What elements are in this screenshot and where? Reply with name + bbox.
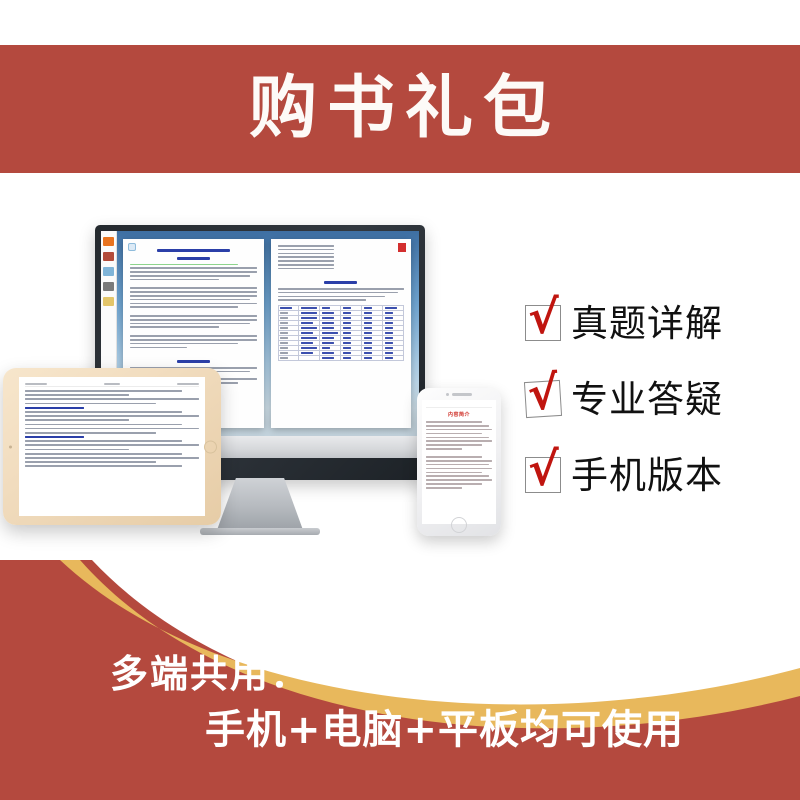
doc-text-line bbox=[278, 256, 335, 258]
tablet-camera-icon bbox=[9, 445, 12, 448]
bottom-section: 多端共用： 手机+电脑+平板均可使用 bbox=[0, 560, 800, 800]
document-page-right[interactable] bbox=[271, 239, 412, 428]
doc-text-line bbox=[25, 449, 129, 451]
doc-text-line bbox=[130, 271, 257, 273]
doc-text-line bbox=[25, 419, 129, 421]
doc-text-line bbox=[278, 264, 335, 266]
page-title: 购书礼包 bbox=[239, 75, 561, 143]
doc-text-line bbox=[130, 323, 250, 325]
tablet-screen[interactable] bbox=[19, 377, 205, 516]
bottom-tagline-line1: 多端共用： bbox=[110, 655, 310, 693]
doc-text-line bbox=[426, 475, 489, 477]
tablet-status-bar bbox=[25, 382, 199, 387]
doc-text-line bbox=[25, 411, 182, 413]
doc-text-line bbox=[25, 415, 199, 417]
check-glyph: √ bbox=[528, 446, 559, 492]
doc-text-line bbox=[25, 440, 182, 442]
monitor-stand-neck bbox=[217, 478, 303, 530]
doc-heading-line bbox=[25, 436, 84, 438]
status-center-icon bbox=[104, 383, 120, 385]
doc-text-line bbox=[130, 343, 238, 345]
doc-text-line bbox=[426, 456, 482, 458]
feature-item-3: √ 手机版本 bbox=[525, 437, 795, 513]
doc-text-line bbox=[130, 319, 257, 321]
check-glyph: √ bbox=[526, 369, 559, 417]
feature-label: 手机版本 bbox=[571, 457, 723, 494]
data-table bbox=[278, 305, 405, 361]
doc-text-line bbox=[25, 453, 182, 455]
doc-text-line bbox=[130, 291, 257, 293]
feature-item-1: √ 真题详解 bbox=[525, 285, 795, 361]
doc-text-line bbox=[130, 326, 219, 328]
feature-label: 真题详解 bbox=[571, 305, 723, 342]
doc-text-line bbox=[130, 295, 257, 297]
doc-text-line bbox=[130, 347, 187, 349]
doc-text-line bbox=[130, 275, 250, 277]
doc-text-line bbox=[278, 268, 335, 270]
phone-earpiece-icon bbox=[452, 393, 472, 396]
doc-text-line bbox=[426, 460, 492, 462]
bottom-tagline-line2: 手机+电脑+平板均可使用 bbox=[205, 710, 684, 750]
doc-text-line bbox=[278, 292, 398, 294]
doc-text-line bbox=[25, 432, 156, 434]
doc-text-line bbox=[426, 448, 462, 450]
bookmark-flag-icon bbox=[398, 243, 406, 252]
doc-text-line bbox=[278, 288, 405, 290]
page-badge-icon bbox=[128, 243, 136, 251]
feature-item-2: √ 专业答疑 bbox=[525, 361, 795, 437]
doc-text-line bbox=[25, 424, 182, 426]
doc-text-line bbox=[426, 433, 482, 435]
doc-text-line bbox=[278, 296, 386, 298]
doc-text-line bbox=[130, 306, 238, 308]
doc-text-line bbox=[130, 339, 257, 341]
doc-text-line bbox=[278, 299, 367, 301]
check-glyph: √ bbox=[528, 294, 559, 340]
tablet-device bbox=[3, 368, 221, 525]
doc-text-line bbox=[130, 335, 257, 337]
doc-text-line bbox=[278, 253, 335, 255]
doc-text-line bbox=[426, 487, 462, 489]
phone-screen[interactable]: 内容简介 bbox=[422, 400, 496, 524]
doc-text-line bbox=[130, 279, 219, 281]
doc-text-line bbox=[426, 425, 489, 427]
doc-text-line bbox=[278, 260, 335, 262]
doc-title-bar bbox=[157, 249, 230, 252]
doc-subtitle-bar bbox=[324, 281, 357, 284]
doc-text-line bbox=[25, 403, 156, 405]
doc-text-line bbox=[25, 398, 199, 400]
doc-text-line bbox=[25, 461, 156, 463]
doc-text-line bbox=[278, 249, 335, 251]
doc-text-line bbox=[25, 444, 199, 446]
checkbox-checked-icon: √ bbox=[525, 457, 561, 493]
doc-text-line bbox=[426, 483, 482, 485]
bottom-text-block: 多端共用： 手机+电脑+平板均可使用 bbox=[0, 560, 800, 800]
phone-speaker bbox=[446, 393, 472, 396]
promo-banner-page: 购书礼包 bbox=[0, 0, 800, 800]
doc-text-line bbox=[130, 303, 257, 305]
doc-text-line bbox=[130, 267, 257, 269]
doc-text-line bbox=[130, 287, 257, 289]
doc-heading-line bbox=[25, 407, 84, 409]
doc-text-line bbox=[25, 394, 129, 396]
red-tool-icon[interactable] bbox=[103, 252, 114, 261]
doc-subtitle-bar bbox=[177, 360, 210, 363]
doc-text-line bbox=[25, 428, 199, 430]
phone-camera-icon bbox=[446, 393, 449, 396]
phone-status-bar bbox=[426, 404, 492, 408]
doc-text-line bbox=[130, 299, 250, 301]
yellow-tool-icon[interactable] bbox=[103, 297, 114, 306]
feature-label: 专业答疑 bbox=[571, 381, 723, 418]
doc-text-line bbox=[25, 390, 182, 392]
doc-text-line bbox=[25, 465, 182, 467]
doc-text-line bbox=[426, 479, 492, 481]
tablet-home-button[interactable] bbox=[204, 440, 217, 453]
blue-tool-icon[interactable] bbox=[103, 267, 114, 276]
gray-tool-icon[interactable] bbox=[103, 282, 114, 291]
doc-text-line bbox=[426, 468, 492, 470]
phone-doc-heading: 内容简介 bbox=[426, 411, 492, 418]
orange-tool-icon[interactable] bbox=[103, 237, 114, 246]
doc-text-line bbox=[426, 421, 482, 423]
doc-text-line bbox=[426, 464, 489, 466]
phone-device: 内容简介 bbox=[417, 388, 501, 536]
monitor-stand-foot bbox=[200, 528, 320, 535]
doc-text-line bbox=[130, 264, 238, 266]
doc-text-line bbox=[130, 315, 257, 317]
battery-icon bbox=[177, 383, 199, 385]
device-showcase: 内容简介 bbox=[0, 180, 530, 570]
doc-text-line bbox=[426, 437, 489, 439]
top-banner: 购书礼包 bbox=[0, 45, 800, 173]
checkbox-checked-icon: √ bbox=[524, 380, 562, 418]
doc-text-line bbox=[426, 440, 492, 442]
doc-subtitle-bar bbox=[177, 257, 210, 260]
doc-text-line bbox=[426, 429, 492, 431]
phone-home-button[interactable] bbox=[451, 517, 467, 533]
doc-text-line bbox=[426, 472, 482, 474]
doc-text-line bbox=[278, 245, 335, 247]
doc-text-line bbox=[426, 444, 482, 446]
checkbox-checked-icon: √ bbox=[525, 305, 561, 341]
status-left-icon bbox=[25, 383, 47, 385]
feature-list: √ 真题详解 √ 专业答疑 √ 手机版本 bbox=[525, 285, 795, 513]
table-row bbox=[278, 356, 404, 361]
doc-text-line bbox=[25, 457, 199, 459]
